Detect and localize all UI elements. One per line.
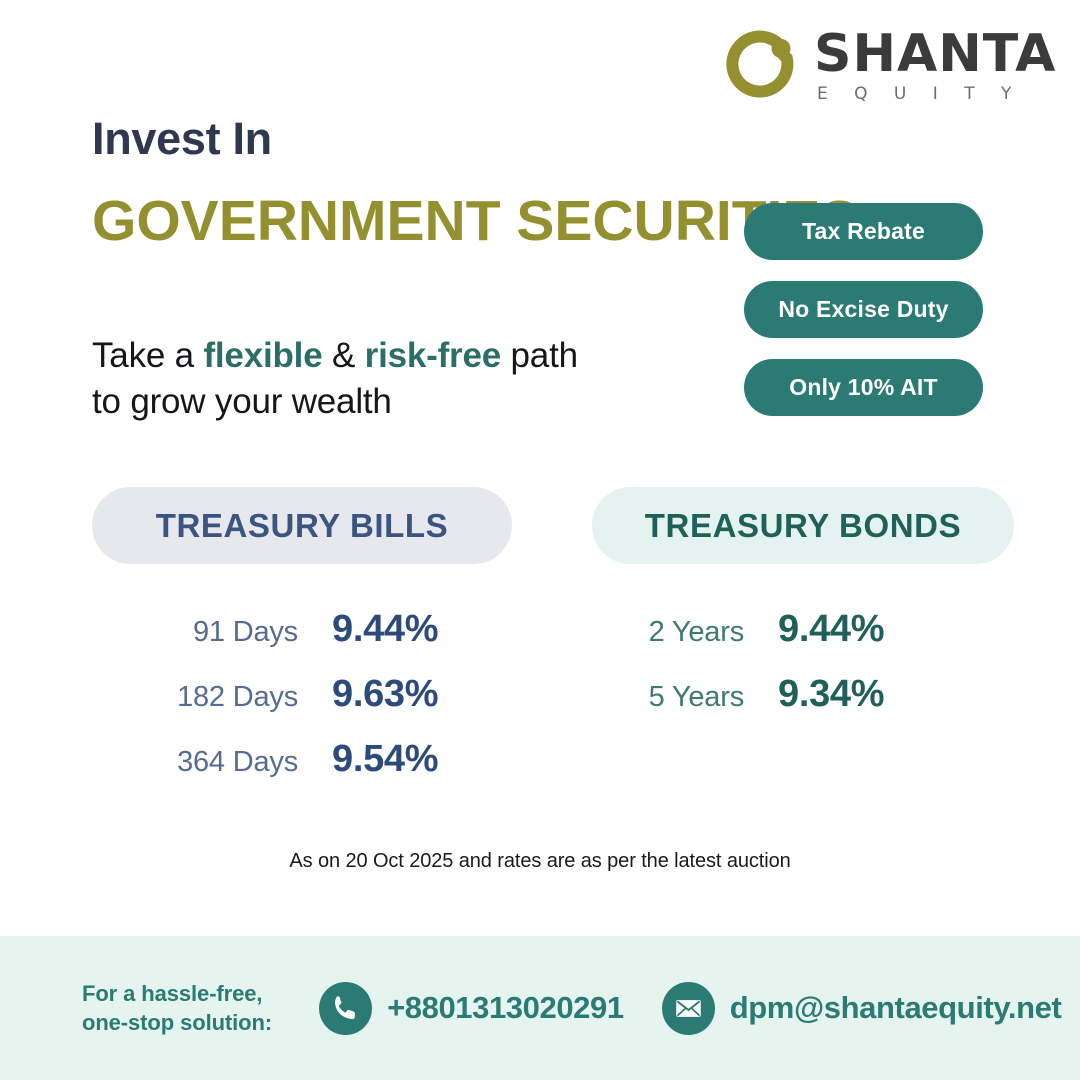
rate-value: 9.34%: [778, 673, 884, 716]
envelope-icon: [662, 982, 715, 1035]
treasury-bills-rates: 91 Days 9.44% 182 Days 9.63% 364 Days 9.…: [92, 608, 512, 781]
tagline-text-2: &: [322, 336, 364, 375]
treasury-bonds-rates: 2 Years 9.44% 5 Years 9.34%: [592, 608, 1014, 716]
treasury-bills-column: TREASURY BILLS 91 Days 9.44% 182 Days 9.…: [92, 487, 512, 781]
badge-tax-rebate[interactable]: Tax Rebate: [744, 203, 983, 260]
poster-canvas: SHANTA E Q U I T Y Invest In GOVERNMENT …: [0, 0, 1080, 1080]
table-row: 5 Years 9.34%: [592, 673, 1014, 716]
brand-subname: E Q U I T Y: [817, 84, 1056, 104]
brand-name: SHANTA: [814, 30, 1056, 80]
badge-only-10-percent-ait[interactable]: Only 10% AIT: [744, 359, 983, 416]
tagline: Take a flexible & risk-free path to grow…: [92, 333, 578, 425]
email-address[interactable]: dpm@shantaequity.net: [730, 990, 1062, 1026]
table-row: 364 Days 9.54%: [92, 738, 512, 781]
tagline-line-2: to grow your wealth: [92, 382, 392, 421]
tagline-text-3: path: [501, 336, 578, 375]
tagline-text-1: Take a: [92, 336, 203, 375]
shanta-circle-logo-icon: [726, 29, 800, 103]
footer-lead-line-2: one-stop solution:: [82, 1010, 272, 1035]
tagline-emphasis-riskfree: risk-free: [365, 336, 501, 375]
tagline-emphasis-flexible: flexible: [203, 336, 322, 375]
rate-value: 9.44%: [332, 608, 438, 651]
rate-term: 2 Years: [592, 616, 744, 649]
contact-email[interactable]: dpm@shantaequity.net: [662, 982, 1062, 1035]
rate-term: 182 Days: [92, 681, 298, 714]
headline-kicker: Invest In: [92, 113, 272, 165]
rate-value: 9.44%: [778, 608, 884, 651]
phone-number[interactable]: +8801313020291: [387, 990, 624, 1026]
rate-term: 91 Days: [92, 616, 298, 649]
brand-logo: SHANTA E Q U I T Y: [726, 28, 1056, 104]
badge-no-excise-duty[interactable]: No Excise Duty: [744, 281, 983, 338]
contact-footer: For a hassle-free, one-stop solution: +8…: [0, 936, 1080, 1080]
footer-lead-line-1: For a hassle-free,: [82, 981, 262, 1006]
treasury-bills-heading: TREASURY BILLS: [92, 487, 512, 564]
phone-icon: [319, 982, 372, 1035]
treasury-bonds-column: TREASURY BONDS 2 Years 9.44% 5 Years 9.3…: [592, 487, 1014, 716]
rate-term: 364 Days: [92, 746, 298, 779]
footer-lead-text: For a hassle-free, one-stop solution:: [82, 979, 272, 1037]
rate-term: 5 Years: [592, 681, 744, 714]
table-row: 2 Years 9.44%: [592, 608, 1014, 651]
rate-value: 9.63%: [332, 673, 438, 716]
benefit-badges: Tax Rebate No Excise Duty Only 10% AIT: [744, 203, 983, 416]
rate-value: 9.54%: [332, 738, 438, 781]
table-row: 91 Days 9.44%: [92, 608, 512, 651]
disclaimer-text: As on 20 Oct 2025 and rates are as per t…: [0, 850, 1080, 873]
brand-wordmark: SHANTA E Q U I T Y: [814, 30, 1056, 104]
table-row: 182 Days 9.63%: [92, 673, 512, 716]
treasury-bonds-heading: TREASURY BONDS: [592, 487, 1014, 564]
contact-phone[interactable]: +8801313020291: [319, 982, 624, 1035]
